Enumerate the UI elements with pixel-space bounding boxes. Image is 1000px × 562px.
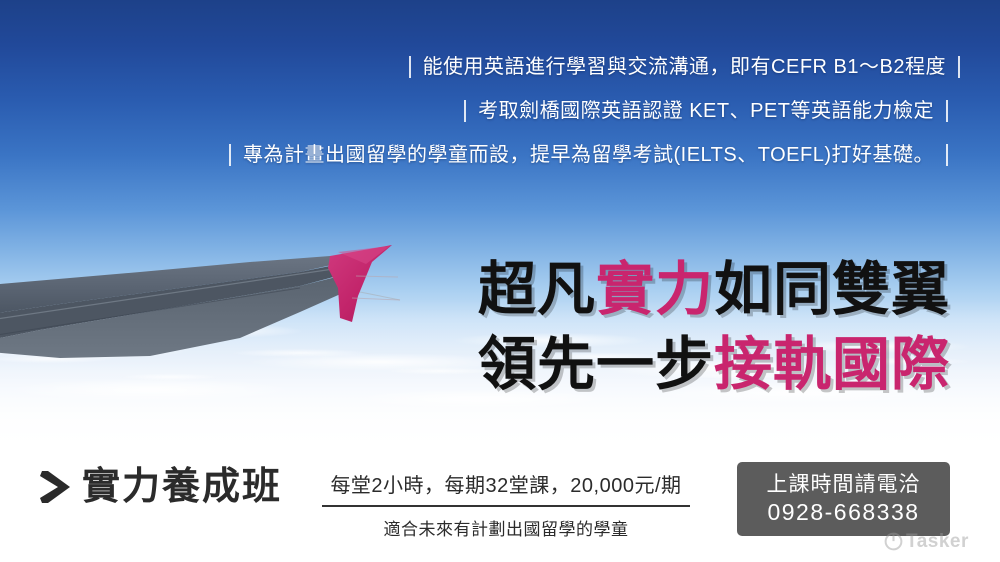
headline-line-1-accent: 實力	[596, 257, 714, 322]
advertisement-banner: 能使用英語進行學習與交流溝通，即有CEFR B1～B2程度 考取劍橋國際英語認證…	[0, 0, 1000, 562]
feature-bullet-3-text: 專為計畫出國留學的學童而設，提早為留學考試(IELTS、TOEFL)打好基礎。	[231, 145, 946, 165]
course-detail-main: 每堂2小時，每期32堂課，20,000元/期	[322, 472, 690, 505]
sky-photo-background: 能使用英語進行學習與交流溝通，即有CEFR B1～B2程度 考取劍橋國際英語認證…	[0, 0, 1000, 455]
watermark: Tasker	[884, 532, 969, 551]
headline-line-1-part-a: 超凡	[478, 257, 596, 322]
headline-line-1: 超凡實力如同雙翼	[478, 252, 950, 327]
headline-line-2-part-a: 領先一步	[478, 332, 714, 397]
bullet-bar-right-icon	[958, 56, 960, 78]
bullet-bar-right-icon	[946, 144, 948, 166]
chevron-right-icon	[38, 468, 74, 506]
course-name: 實力養成班	[82, 468, 282, 506]
bottom-info-bar: 實力養成班 每堂2小時，每期32堂課，20,000元/期 適合未來有計劃出國留學…	[0, 452, 1000, 562]
feature-bullet-list: 能使用英語進行學習與交流溝通，即有CEFR B1～B2程度 考取劍橋國際英語認證…	[0, 56, 1000, 188]
watermark-brand: Tasker	[906, 532, 969, 551]
course-detail-sub: 適合未來有計劃出國留學的學童	[322, 507, 690, 540]
contact-box[interactable]: 上課時間請電洽 0928-668338	[737, 462, 950, 536]
feature-bullet-1: 能使用英語進行學習與交流溝通，即有CEFR B1～B2程度	[409, 56, 960, 78]
headline-block: 超凡實力如同雙翼 領先一步接軌國際	[478, 252, 950, 403]
feature-bullet-2: 考取劍橋國際英語認證 KET、PET等英語能力檢定	[464, 100, 948, 122]
course-details-group: 每堂2小時，每期32堂課，20,000元/期 適合未來有計劃出國留學的學童	[322, 472, 690, 540]
feature-bullet-1-text: 能使用英語進行學習與交流溝通，即有CEFR B1～B2程度	[411, 57, 958, 77]
tasker-circle-logo-icon	[884, 532, 903, 551]
feature-bullet-3: 專為計畫出國留學的學童而設，提早為留學考試(IELTS、TOEFL)打好基礎。	[229, 144, 948, 166]
headline-line-2: 領先一步接軌國際	[478, 327, 950, 402]
bullet-bar-right-icon	[946, 100, 948, 122]
contact-title: 上課時間請電洽	[767, 472, 921, 498]
contact-phone-number[interactable]: 0928-668338	[767, 498, 919, 527]
feature-bullet-2-text: 考取劍橋國際英語認證 KET、PET等英語能力檢定	[466, 101, 946, 121]
headline-line-1-part-b: 如同雙翼	[714, 257, 950, 322]
course-title-group: 實力養成班	[38, 468, 282, 506]
headline-line-2-accent: 接軌國際	[714, 332, 950, 397]
